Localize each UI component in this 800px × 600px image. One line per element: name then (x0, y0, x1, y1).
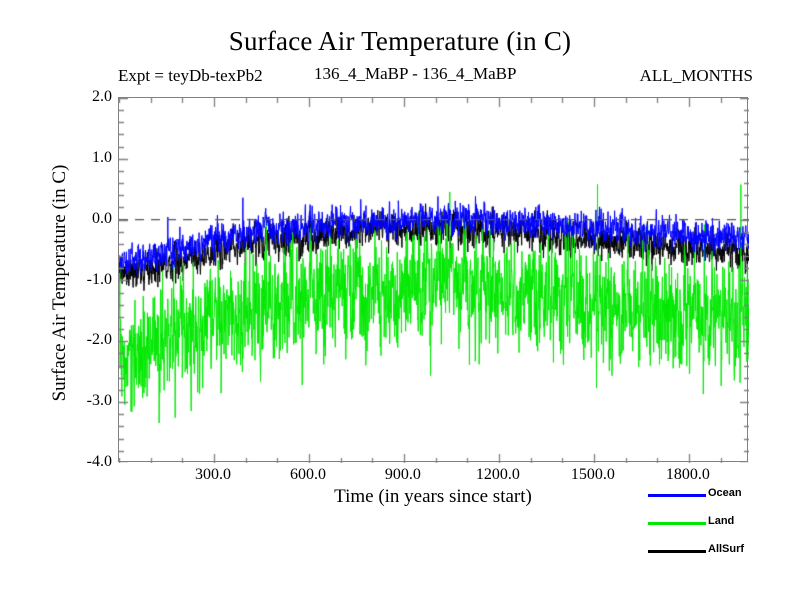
legend-item: Ocean (648, 487, 798, 515)
y-tick-label: -3.0 (87, 392, 112, 410)
x-tick-label: 600.0 (290, 466, 326, 484)
x-tick-label: 1800.0 (666, 466, 710, 484)
x-tick-label: 300.0 (195, 466, 231, 484)
period-label: 136_4_MaBP - 136_4_MaBP (314, 64, 516, 84)
y-tick-label: 2.0 (92, 88, 112, 106)
chart-legend: OceanLandAllSurf (648, 487, 798, 571)
y-tick-label: -4.0 (87, 453, 112, 471)
y-tick-label: -1.0 (87, 271, 112, 289)
subtitle-row: Expt = teyDb-texPb2 136_4_MaBP - 136_4_M… (118, 66, 753, 88)
x-tick-label: 1200.0 (476, 466, 520, 484)
legend-line-swatch (648, 522, 706, 525)
legend-line-swatch (648, 550, 706, 553)
legend-item: AllSurf (648, 543, 798, 571)
experiment-label: Expt = teyDb-texPb2 (118, 66, 263, 86)
y-tick-label: 0.0 (92, 210, 112, 228)
legend-label: Land (708, 515, 734, 527)
plot-canvas (119, 98, 749, 463)
y-axis-title: Surface Air Temperature (in C) (49, 93, 71, 473)
legend-label: AllSurf (708, 543, 744, 555)
legend-item: Land (648, 515, 798, 543)
legend-line-swatch (648, 494, 706, 497)
y-tick-label: 1.0 (92, 149, 112, 167)
plot-frame (118, 97, 748, 462)
chart-page: Surface Air Temperature (in C) Expt = te… (0, 0, 800, 600)
x-tick-label: 900.0 (385, 466, 421, 484)
x-tick-label: 1500.0 (571, 466, 615, 484)
chart-title: Surface Air Temperature (in C) (0, 26, 800, 57)
x-axis-ticks: 300.0600.0900.01200.01500.01800.0 (118, 466, 748, 488)
y-tick-label: -2.0 (87, 331, 112, 349)
months-label: ALL_MONTHS (640, 66, 753, 86)
legend-label: Ocean (708, 487, 742, 499)
